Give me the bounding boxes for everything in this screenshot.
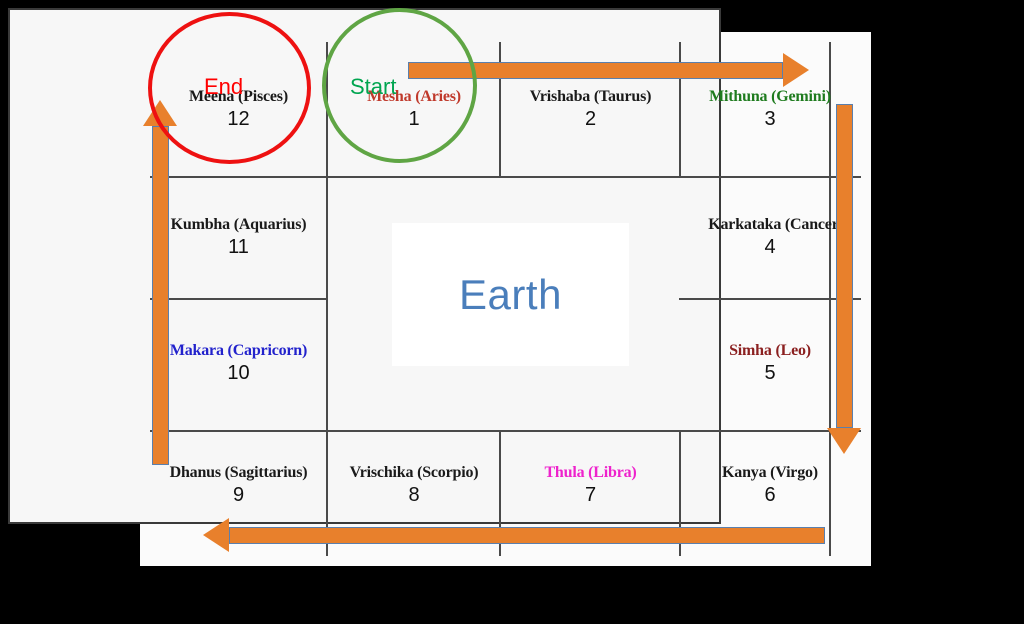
sign-number: 3 <box>764 107 775 132</box>
sign-number: 2 <box>585 107 596 132</box>
end-annotation-label: End <box>204 74 243 100</box>
sign-label: Makara (Capricorn) <box>170 342 307 360</box>
sign-label: Mithuna (Gemini) <box>709 88 831 106</box>
sign-label: Kumbha (Aquarius) <box>171 216 307 234</box>
cell-simha-leo[interactable]: Simha (Leo) 5 <box>681 300 859 428</box>
cell-kumbha-aquarius[interactable]: Kumbha (Aquarius) 11 <box>152 178 325 298</box>
sign-number: 10 <box>227 361 249 386</box>
sign-label: Vrischika (Scorpio) <box>350 464 479 482</box>
sign-number: 9 <box>233 483 244 508</box>
bottom-arrow-shaft <box>229 527 825 544</box>
left-arrow-shaft <box>152 126 169 465</box>
cell-makara-capricorn[interactable]: Makara (Capricorn) 10 <box>152 300 325 428</box>
start-annotation-label: Start <box>350 74 396 100</box>
sign-label: Karkataka (Cancer) <box>708 216 844 234</box>
sign-number: 5 <box>764 361 775 386</box>
right-arrow-head-down-icon <box>827 428 861 454</box>
sign-number: 6 <box>764 483 775 508</box>
sign-number: 7 <box>585 483 596 508</box>
earth-center-box: Earth <box>392 223 629 366</box>
earth-label: Earth <box>459 271 562 319</box>
sign-label: Vrishaba (Taurus) <box>530 88 652 106</box>
start-annotation-circle <box>322 8 477 163</box>
top-arrow-head-right-icon <box>783 53 809 87</box>
sign-label: Thula (Libra) <box>544 464 636 482</box>
sign-number: 11 <box>228 235 249 260</box>
diagram-canvas: Earth Meena (Pisces) 12 Mesha (Aries) 1 … <box>0 0 1024 624</box>
sign-label: Simha (Leo) <box>729 342 811 360</box>
bottom-arrow-head-left-icon <box>203 518 229 552</box>
sign-label: Kanya (Virgo) <box>722 464 818 482</box>
cell-karkataka-cancer[interactable]: Karkataka (Cancer) 4 <box>681 178 859 298</box>
sign-label: Dhanus (Sagittarius) <box>170 464 308 482</box>
grid-hline-3 <box>150 430 861 432</box>
right-arrow-shaft <box>836 104 853 428</box>
sign-number: 4 <box>764 235 775 260</box>
sign-number: 8 <box>408 483 419 508</box>
